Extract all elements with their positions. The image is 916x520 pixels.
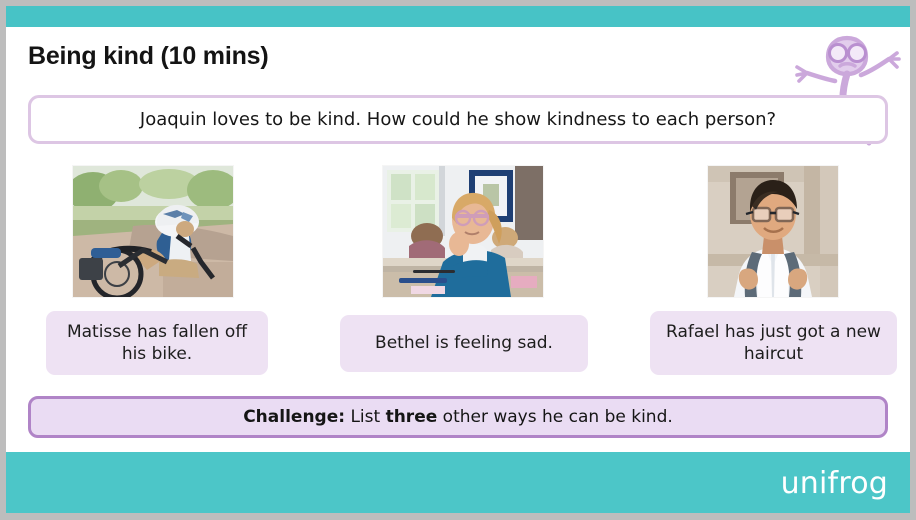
scenario-caption: Rafael has just got a new haircut [650,311,897,375]
question-banner: Joaquin loves to be kind. How could he s… [28,95,888,144]
challenge-bold-word: three [386,407,438,427]
footer-accent-bar: unifrog [6,452,910,513]
scenario-card: Rafael has just got a new haircut [650,166,897,375]
challenge-text: Challenge: List three other ways he can … [243,407,673,427]
unifrog-logo: unifrog [781,466,888,501]
scenario-card: Matisse has fallen off his bike. [28,166,286,375]
slide-canvas: Being kind (10 mins) [6,6,910,513]
scenario-card: Bethel is feeling sad. [339,166,589,372]
challenge-banner: Challenge: List three other ways he can … [28,396,888,438]
challenge-label: Challenge: [243,407,345,427]
photo-child-fallen-off-bike [73,166,233,297]
photo-boy-with-backpack [708,166,838,297]
scenario-caption: Bethel is feeling sad. [340,315,588,372]
page-title: Being kind (10 mins) [28,42,268,71]
challenge-text-after: other ways he can be kind. [437,407,673,427]
question-text: Joaquin loves to be kind. How could he s… [140,109,776,130]
scenario-card-row: Matisse has fallen off his bike. [28,166,888,381]
photo-girl-looking-sad-at-desk [383,166,543,297]
scenario-caption: Matisse has fallen off his bike. [46,311,268,375]
header-accent-bar [6,6,910,27]
challenge-text-before: List [345,407,386,427]
